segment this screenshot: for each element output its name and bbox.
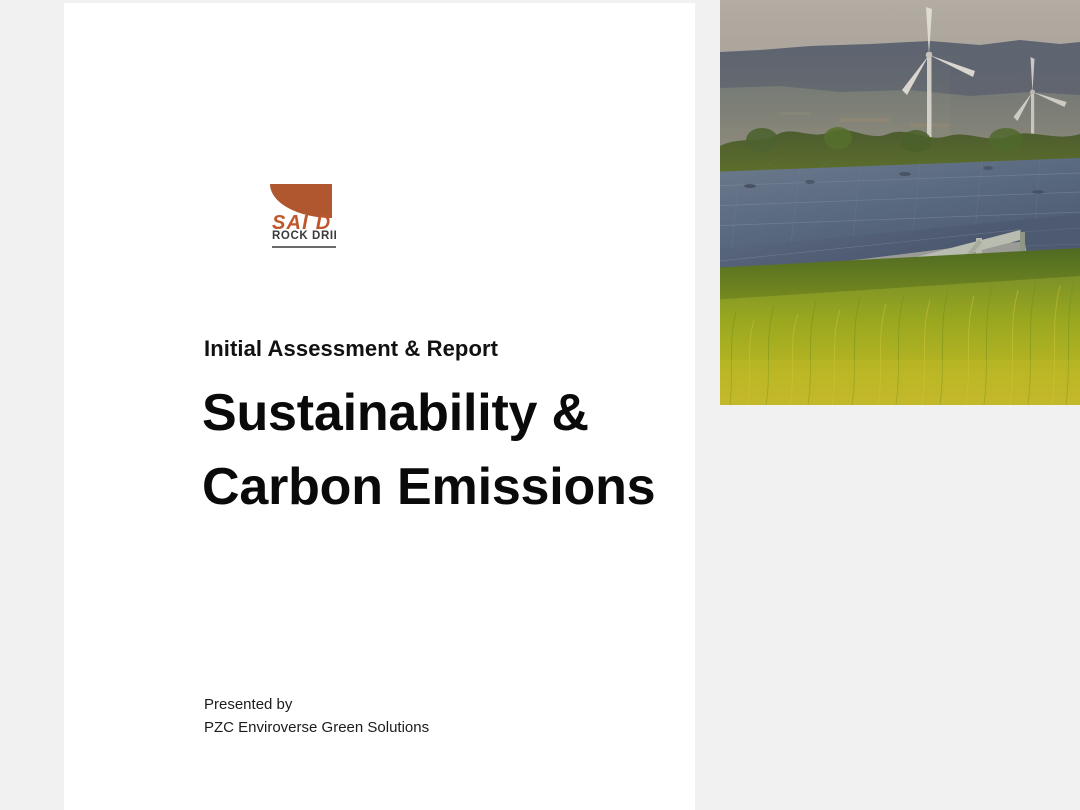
presenter-name: PZC Enviroverse Green Solutions <box>204 716 429 739</box>
slide-eyebrow: Initial Assessment & Report <box>204 335 498 363</box>
page-title-line-2: Carbon Emissions <box>202 451 722 525</box>
logo-subtitle-text: ROCK DRILL <box>272 231 336 243</box>
slide-page: SAI D ROCK DRILL JUST Initial Assessment… <box>64 3 695 810</box>
company-logo: SAI D ROCK DRILL JUST <box>204 184 336 252</box>
logo-artwork: SAI D ROCK DRILL JUST <box>204 184 336 252</box>
slide-canvas: SAI D ROCK DRILL JUST Initial Assessment… <box>0 0 1080 810</box>
page-title: Sustainability & Carbon Emissions <box>202 377 722 525</box>
presenter-block: Presented by PZC Enviroverse Green Solut… <box>204 693 429 740</box>
cover-photo-artwork <box>720 0 1080 405</box>
page-title-line-1: Sustainability & <box>202 377 722 451</box>
logo-divider <box>272 246 336 248</box>
cover-photo <box>720 0 1080 405</box>
presented-by-label: Presented by <box>204 693 429 716</box>
